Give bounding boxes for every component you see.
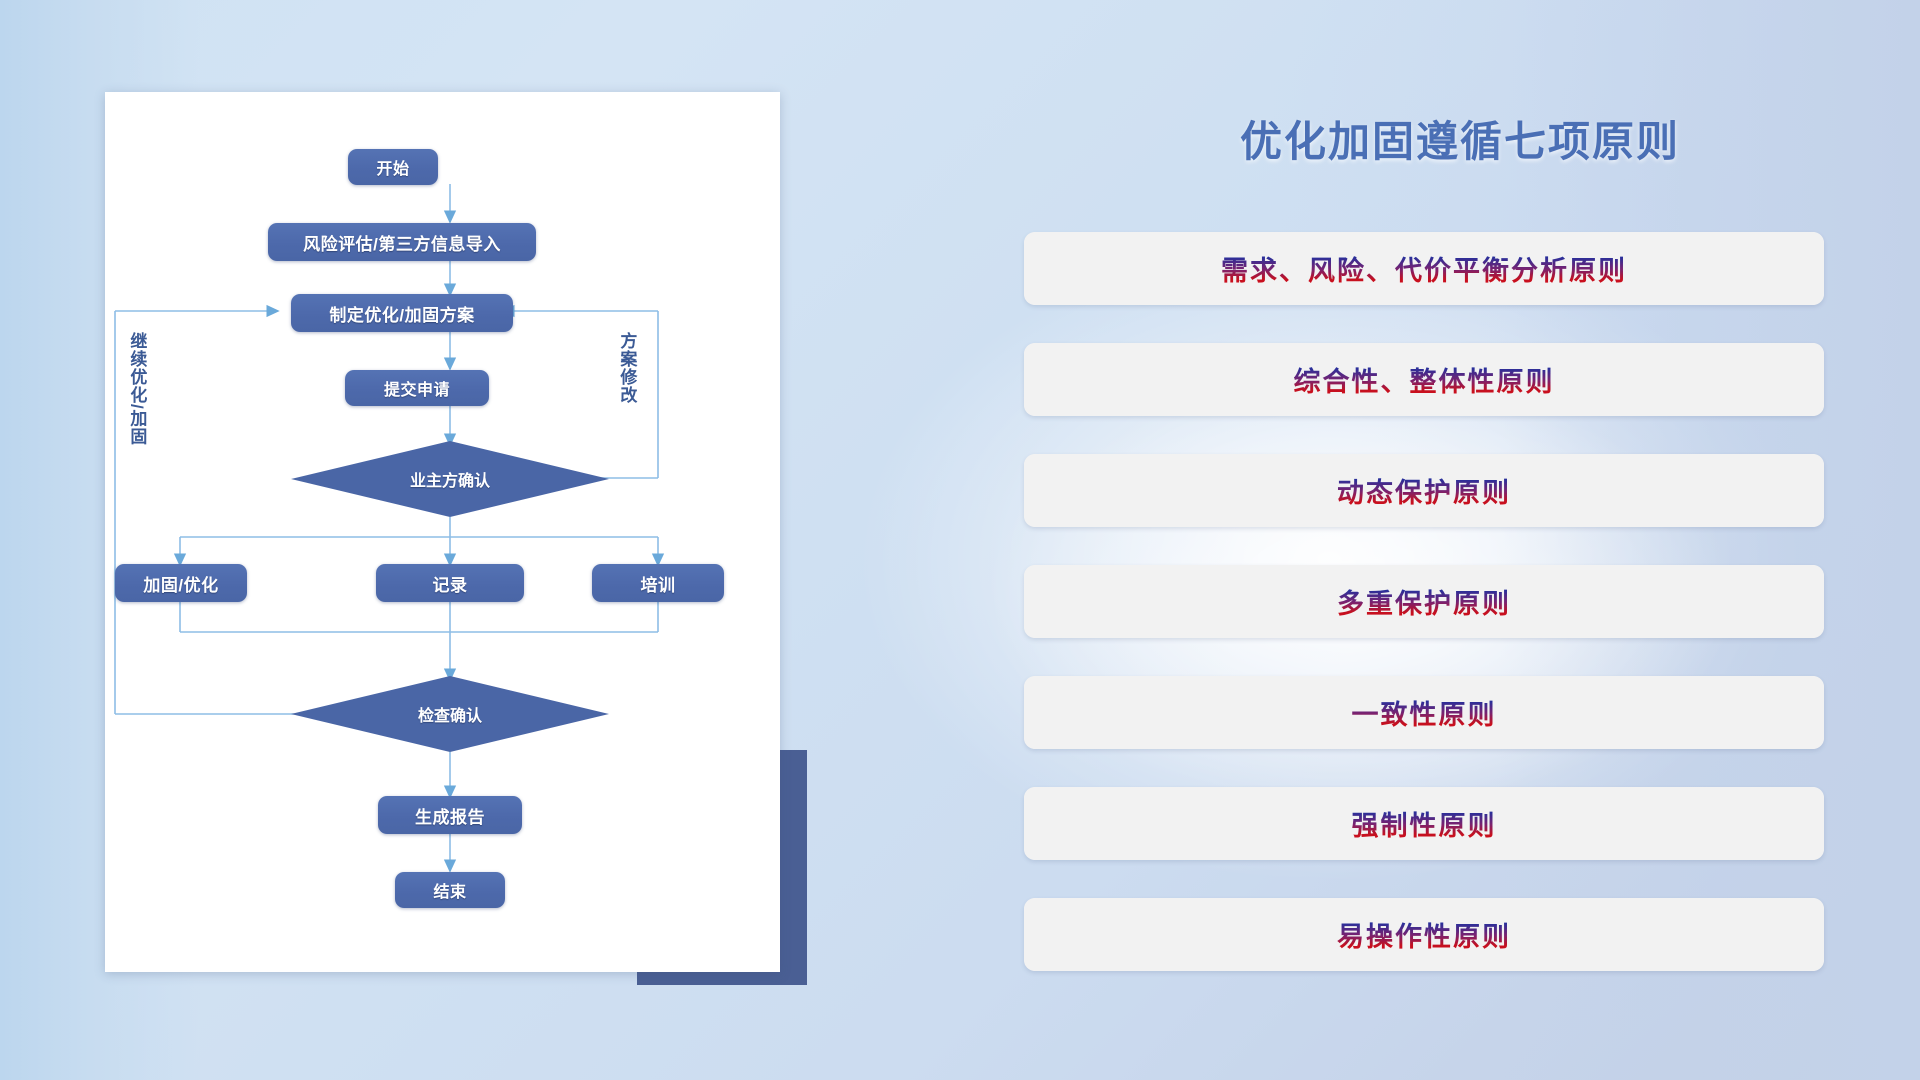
flow-node-label: 提交申请 (384, 376, 450, 400)
flow-decision-label: 业主方确认 (290, 440, 610, 518)
flow-node-label: 加固/优化 (143, 571, 218, 596)
flow-node-make-plan[interactable]: 制定优化/加固方案 (291, 294, 513, 332)
flowchart-panel: 开始 风险评估/第三方信息导入 制定优化/加固方案 提交申请 业主方确认 加固/… (105, 92, 780, 972)
flow-node-generate-report[interactable]: 生成报告 (378, 796, 522, 834)
principle-card-label: 动态保护原则 (1337, 471, 1511, 510)
flow-node-reinforce-optimize[interactable]: 加固/优化 (115, 564, 247, 602)
flow-node-label: 开始 (376, 155, 409, 179)
principle-card[interactable]: 综合性、整体性原则 (1024, 343, 1824, 416)
flow-edge-label-continue-optimize: 继续优化/加固 (127, 332, 145, 497)
principle-card[interactable]: 需求、风险、代价平衡分析原则 (1024, 232, 1824, 305)
flow-node-label: 生成报告 (415, 803, 485, 828)
slide-background: 开始 风险评估/第三方信息导入 制定优化/加固方案 提交申请 业主方确认 加固/… (0, 0, 1920, 1080)
principle-card-label: 强制性原则 (1352, 804, 1497, 843)
flow-decision-owner-confirm[interactable]: 业主方确认 (290, 440, 610, 518)
page-title: 优化加固遵循七项原则 (1150, 108, 1770, 169)
principle-card-label: 易操作性原则 (1337, 915, 1511, 954)
principles-list: 需求、风险、代价平衡分析原则 综合性、整体性原则 动态保护原则 多重保护原则 一… (1024, 232, 1824, 1009)
flow-node-risk-assessment[interactable]: 风险评估/第三方信息导入 (268, 223, 536, 261)
principle-card-label: 多重保护原则 (1337, 582, 1511, 621)
flow-node-submit-application[interactable]: 提交申请 (345, 370, 489, 406)
flow-node-label: 培训 (641, 571, 676, 596)
flow-node-label: 结束 (433, 878, 466, 902)
flow-edge-label-plan-revision: 方案修改 (617, 332, 635, 452)
flow-node-record[interactable]: 记录 (376, 564, 524, 602)
principle-card-label: 综合性、整体性原则 (1294, 360, 1555, 399)
principle-card[interactable]: 易操作性原则 (1024, 898, 1824, 971)
flow-decision-label: 检查确认 (290, 675, 610, 753)
flow-decision-check-confirm[interactable]: 检查确认 (290, 675, 610, 753)
flow-node-training[interactable]: 培训 (592, 564, 724, 602)
principle-card-label: 需求、风险、代价平衡分析原则 (1221, 249, 1627, 288)
principle-card[interactable]: 强制性原则 (1024, 787, 1824, 860)
principle-card[interactable]: 多重保护原则 (1024, 565, 1824, 638)
principle-card-label: 一致性原则 (1352, 693, 1497, 732)
flow-node-label: 制定优化/加固方案 (329, 301, 474, 326)
principle-card[interactable]: 一致性原则 (1024, 676, 1824, 749)
flow-node-label: 记录 (433, 571, 468, 596)
flow-node-end[interactable]: 结束 (395, 872, 505, 908)
flow-node-start[interactable]: 开始 (348, 149, 438, 185)
flow-node-label: 风险评估/第三方信息导入 (303, 230, 501, 255)
principle-card[interactable]: 动态保护原则 (1024, 454, 1824, 527)
